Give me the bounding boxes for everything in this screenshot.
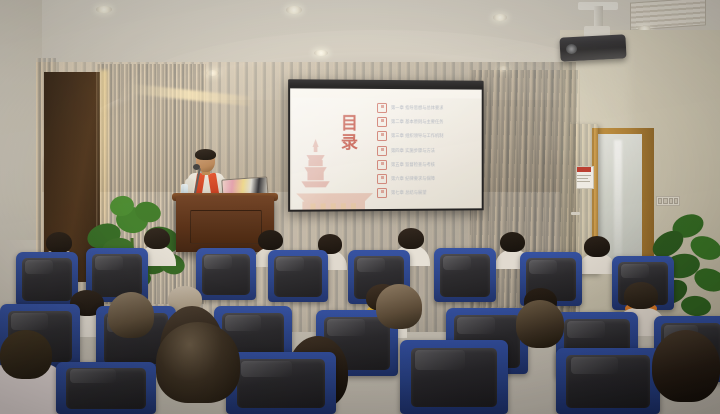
attendee-head (144, 228, 170, 249)
attendee-head (0, 330, 52, 379)
conference-room-photo: 目录 第一章 指导思想与总体要求 第二章 基本原则与主要任务 第三章 组织领导与… (0, 0, 720, 414)
downlight-6 (314, 50, 328, 56)
attendee-head (398, 228, 424, 249)
attendee-head (258, 230, 283, 250)
attendee (376, 284, 422, 344)
toc-item-text: 第二章 基本原则与主要任务 (391, 119, 443, 125)
list-item: 第一章 指导思想与总体要求 (377, 101, 480, 116)
slide-surface: 目录 第一章 指导思想与总体要求 第二章 基本原则与主要任务 第三章 组织领导与… (290, 88, 482, 209)
attendee-head (156, 322, 240, 403)
square-bullet-icon (377, 160, 387, 170)
attendee-head (108, 292, 154, 338)
toc-item-text: 第六章 纪律要求与保障 (391, 176, 435, 182)
list-item: 第二章 基本原则与主要任务 (377, 115, 480, 129)
attendee (652, 330, 720, 414)
attendee-head (624, 282, 658, 309)
notice-text-line (577, 178, 588, 179)
downlight-2 (286, 6, 302, 14)
attendee-head (584, 236, 610, 257)
square-bullet-icon (377, 146, 387, 156)
attendee-head (376, 284, 422, 329)
projection-screen: 目录 第一章 指导思想与总体要求 第二章 基本原则与主要任务 第三章 组织领导与… (288, 79, 484, 212)
downlight-3 (493, 14, 507, 21)
list-item: 第七章 总结与展望 (377, 186, 480, 201)
attendee-head (516, 300, 564, 348)
list-item: 第三章 组织领导与工作机制 (377, 129, 480, 143)
square-bullet-icon (377, 188, 387, 198)
projector-mount-pole (594, 6, 603, 28)
auditorium-seat[interactable] (556, 348, 660, 414)
attendee-head (652, 330, 720, 402)
door-handle-icon[interactable] (571, 212, 580, 215)
square-bullet-icon (377, 117, 387, 127)
toc-item-text: 第四章 实施步骤与方法 (391, 148, 435, 154)
notice-text-line (577, 175, 591, 176)
toc-item-text: 第三章 组织领导与工作机制 (391, 133, 443, 139)
auditorium-seat[interactable] (56, 362, 156, 414)
attendee-head (500, 232, 525, 252)
attendee (584, 236, 610, 270)
slide-title: 目录 (333, 115, 367, 153)
downlight-1 (96, 6, 112, 13)
presenter-hair (195, 149, 216, 160)
list-item: 第四章 实施步骤与方法 (377, 144, 480, 158)
toc-item-text: 第七章 总结与展望 (391, 190, 426, 196)
auditorium-seat[interactable] (268, 250, 328, 302)
attendee (156, 322, 240, 414)
notice-red-header (577, 167, 591, 172)
auditorium-seat[interactable] (16, 252, 78, 306)
slide-toc-list: 第一章 指导思想与总体要求 第二章 基本原则与主要任务 第三章 组织领导与工作机… (377, 101, 480, 200)
toc-item-text: 第五章 监督检查与考核 (391, 162, 435, 168)
list-item: 第六章 纪律要求与保障 (377, 172, 480, 187)
microphone-icon (193, 164, 200, 170)
attendee (108, 292, 154, 354)
projector-lens-icon (566, 44, 577, 54)
door-glass-reflection (614, 140, 622, 260)
attendee-head (46, 232, 72, 253)
toc-item-text: 第一章 指导思想与总体要求 (391, 105, 443, 111)
auditorium-seat[interactable] (434, 248, 496, 302)
list-item: 第五章 监督检查与考核 (377, 158, 480, 172)
auditorium-seat[interactable] (196, 248, 256, 300)
auditorium-seat[interactable] (226, 352, 336, 414)
square-bullet-icon (377, 103, 387, 113)
square-bullet-icon (377, 174, 387, 184)
attendee (0, 330, 52, 414)
auditorium-seat[interactable] (400, 340, 508, 414)
podium-front-panel (190, 210, 262, 244)
notice-text-line (577, 181, 590, 182)
square-bullet-icon (377, 131, 387, 141)
